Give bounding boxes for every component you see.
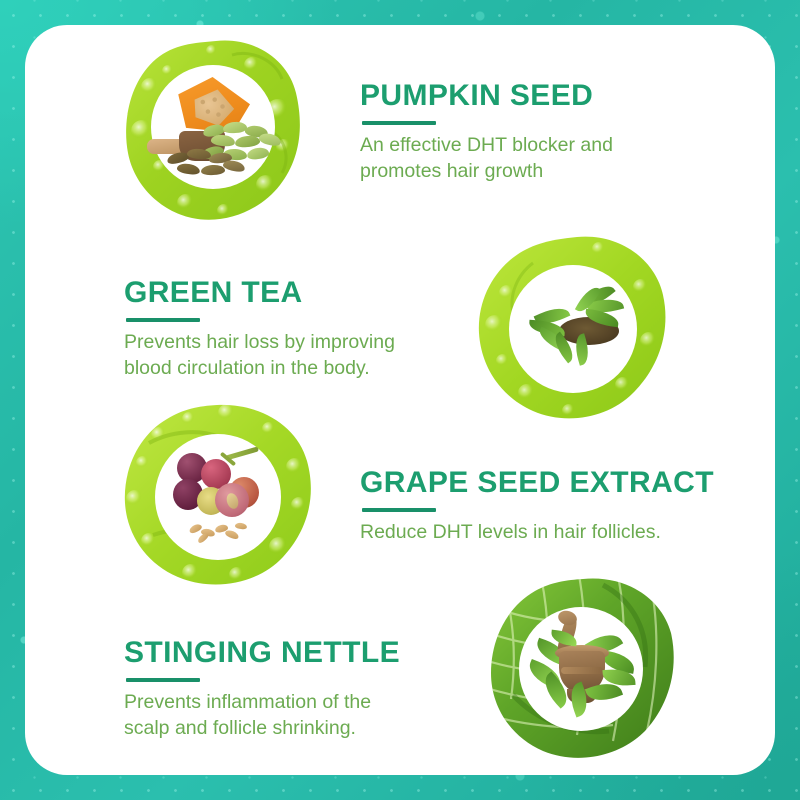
pumpkin-seed-description: An effective DHT blocker and promotes ha… bbox=[360, 132, 740, 184]
grape-seed-extract-text-block: GRAPE SEED EXTRACT Reduce DHT levels in … bbox=[360, 467, 750, 545]
grape-cluster bbox=[167, 445, 277, 545]
ingredient-row-pumpkin-seed: PUMPKIN SEED An effective DHT blocker an… bbox=[25, 25, 775, 225]
stinging-nettle-heading: STINGING NETTLE bbox=[124, 637, 474, 669]
pumpkin-seed-scoop bbox=[147, 121, 287, 181]
stinging-nettle-description: Prevents inflammation of the scalp and f… bbox=[124, 689, 474, 741]
infographic-canvas: PUMPKIN SEED An effective DHT blocker an… bbox=[0, 0, 800, 800]
grape-seed-extract-underline bbox=[362, 508, 436, 512]
stinging-nettle-text-block: STINGING NETTLE Prevents inflammation of… bbox=[124, 637, 474, 741]
grape-seed-extract-heading: GRAPE SEED EXTRACT bbox=[360, 467, 750, 499]
grape-seed-extract-description: Reduce DHT levels in hair follicles. bbox=[360, 519, 750, 545]
pumpkin-seed-text-block: PUMPKIN SEED An effective DHT blocker an… bbox=[360, 80, 740, 184]
green-tea-leaves bbox=[525, 287, 635, 373]
mortar-and-nettle bbox=[525, 609, 643, 719]
green-tea-text-block: GREEN TEA Prevents hair loss by improvin… bbox=[124, 277, 464, 381]
green-tea-description: Prevents hair loss by improving blood ci… bbox=[124, 329, 464, 381]
ingredient-row-grape-seed-extract: GRAPE SEED EXTRACT Reduce DHT levels in … bbox=[25, 385, 775, 595]
pumpkin-seed-underline bbox=[362, 121, 436, 125]
white-content-card: PUMPKIN SEED An effective DHT blocker an… bbox=[25, 25, 775, 775]
stinging-nettle-underline bbox=[126, 678, 200, 682]
pumpkin-seed-heading: PUMPKIN SEED bbox=[360, 80, 740, 112]
green-tea-underline bbox=[126, 318, 200, 322]
green-tea-heading: GREEN TEA bbox=[124, 277, 464, 309]
ingredient-row-stinging-nettle: STINGING NETTLE Prevents inflammation of… bbox=[25, 565, 775, 775]
